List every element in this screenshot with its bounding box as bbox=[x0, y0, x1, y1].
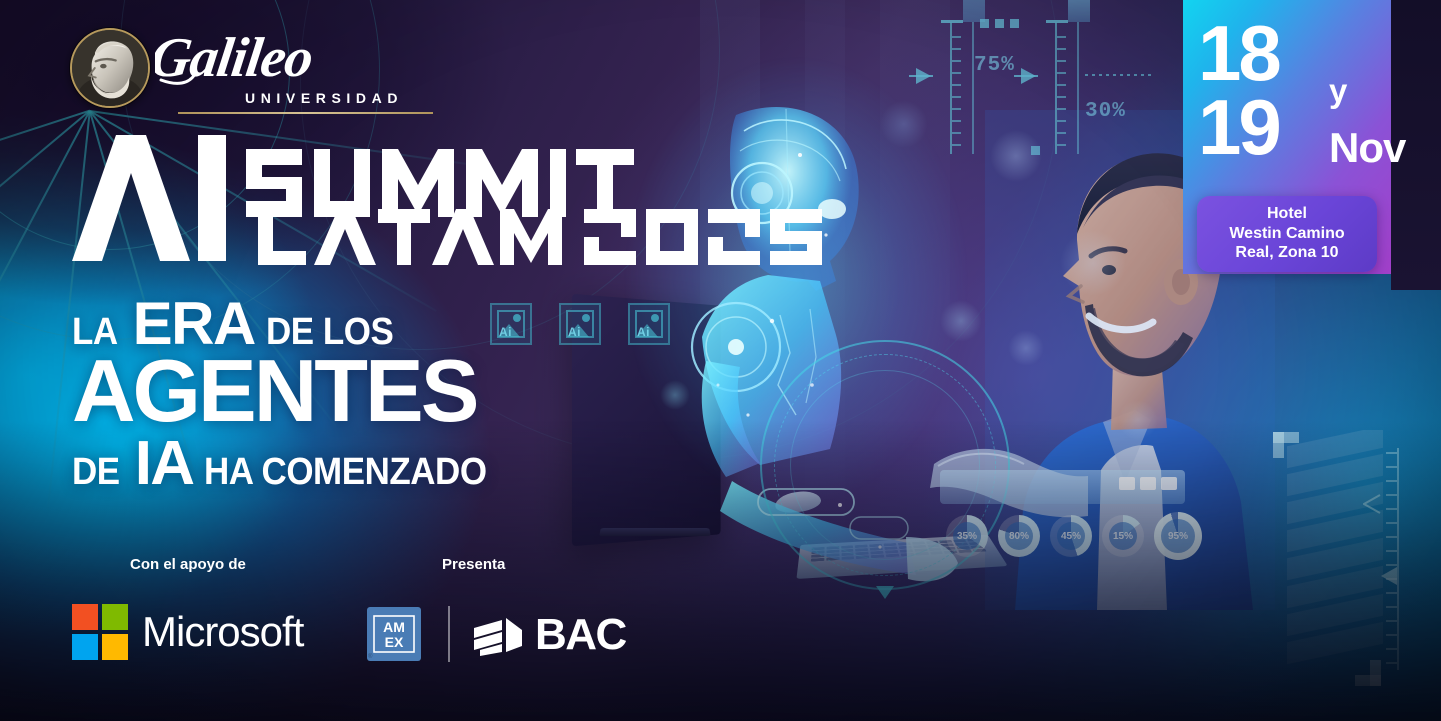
date-day1: 18 bbox=[1198, 22, 1279, 86]
ai-monogram bbox=[72, 135, 226, 261]
tagline-ia: IA bbox=[135, 434, 193, 494]
summit-word bbox=[246, 149, 634, 217]
tagline-de-los: DE LOS bbox=[266, 314, 393, 350]
date-conjunction: y bbox=[1329, 72, 1347, 110]
sponsors-section: Con el apoyo de Presenta Microsoft AM EX… bbox=[72, 556, 692, 666]
amex-registered-mark: ® bbox=[368, 654, 372, 660]
hud-dot bbox=[1031, 146, 1040, 155]
bac-wordmark: BAC bbox=[535, 610, 626, 660]
tagline-line-2: AGENTES bbox=[72, 351, 632, 432]
tagline-line-3: DE IA HA COMENZADO bbox=[72, 434, 632, 494]
tagline: LA ERA DE LOS AGENTES DE IA HA COMENZADO bbox=[72, 295, 632, 493]
event-title-lockup bbox=[72, 133, 632, 268]
hud-gauge-75-label: 75% bbox=[974, 54, 1015, 77]
bac-mark-icon bbox=[472, 612, 524, 658]
presents-label: Presenta bbox=[442, 556, 505, 573]
amex-line1-text: AM bbox=[383, 619, 405, 635]
support-label: Con el apoyo de bbox=[130, 556, 246, 573]
galileo-wordmark: Galileo bbox=[155, 30, 370, 92]
amex-logo[interactable]: AM EX ® bbox=[367, 607, 421, 661]
tagline-ha-comenzado: HA COMENZADO bbox=[204, 454, 487, 490]
microsoft-wordmark: Microsoft bbox=[142, 608, 303, 656]
ai-image-icon: Ai bbox=[628, 303, 670, 345]
venue-line-1: Hotel bbox=[1203, 204, 1371, 224]
tagline-de: DE bbox=[72, 454, 120, 490]
galileo-university-logo[interactable]: Galileo UNIVERSIDAD bbox=[70, 28, 370, 112]
ai-icon-label: Ai bbox=[637, 325, 650, 339]
venue-badge[interactable]: Hotel Westin Camino Real, Zona 10 bbox=[1197, 196, 1377, 272]
university-subtitle: UNIVERSIDAD bbox=[245, 90, 403, 106]
hud-dots bbox=[980, 19, 1019, 28]
microsoft-squares-icon bbox=[72, 604, 128, 660]
amex-line2-text: EX bbox=[385, 634, 404, 650]
microsoft-logo[interactable]: Microsoft bbox=[72, 604, 303, 660]
date-panel: 18 y 19 Nov Hotel Westin Camino Real, Zo… bbox=[1183, 0, 1391, 274]
hud-gauge-30-label: 30% bbox=[1085, 100, 1126, 123]
tagline-agentes: AGENTES bbox=[72, 341, 476, 440]
venue-line-2: Westin Camino bbox=[1203, 224, 1371, 244]
event-banner: 75% 30% Ai Ai Ai bbox=[0, 0, 1441, 721]
date-month: Nov bbox=[1329, 124, 1405, 172]
tagline-la: LA bbox=[72, 314, 118, 350]
logo-underline bbox=[178, 112, 433, 114]
galileo-bust-icon bbox=[70, 28, 150, 108]
bac-logo[interactable]: BAC bbox=[472, 610, 626, 660]
venue-line-3: Real, Zona 10 bbox=[1203, 243, 1371, 263]
hud-dashline bbox=[1085, 74, 1155, 76]
sponsor-divider bbox=[448, 606, 450, 662]
galileo-word-text: Galileo bbox=[155, 30, 316, 89]
date-day2: 19 bbox=[1198, 96, 1279, 160]
